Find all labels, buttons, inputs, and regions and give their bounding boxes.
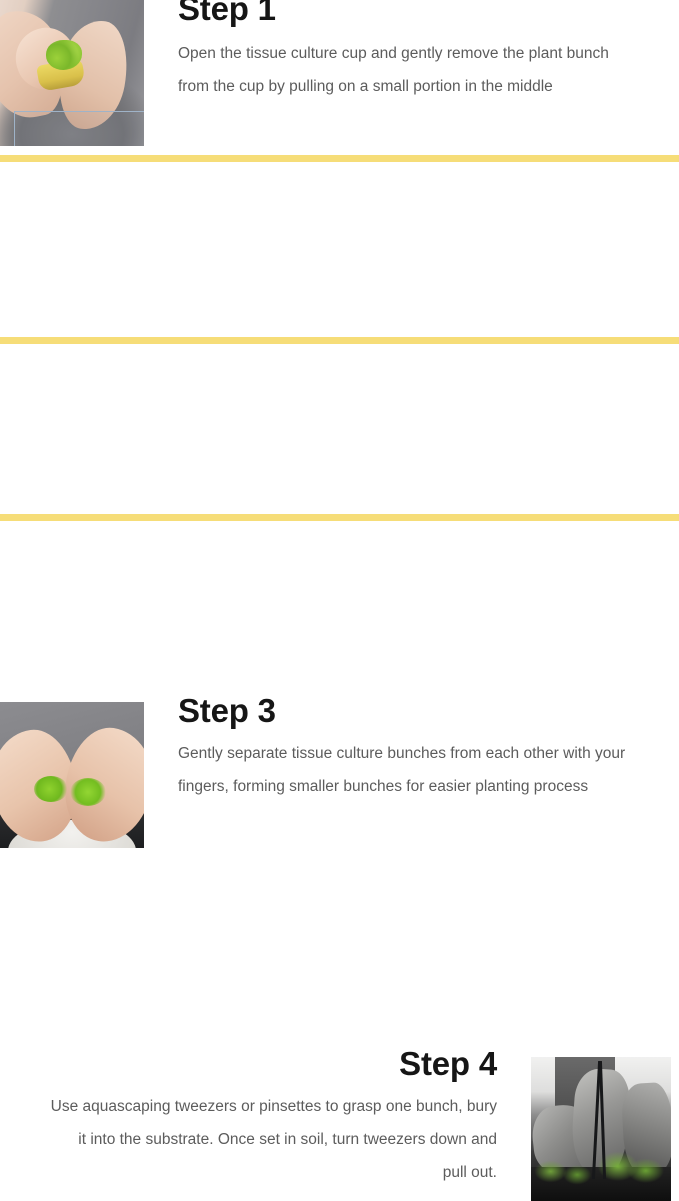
step-3-left-plant-bunch-shape	[34, 776, 68, 802]
step-3-photo-inner	[0, 702, 144, 848]
step-3-body: Gently separate tissue culture bunches f…	[178, 737, 628, 804]
step-row-1: Step 1 Open the tissue culture cup and g…	[0, 0, 679, 155]
step-1-text-block: Step 1 Open the tissue culture cup and g…	[178, 0, 628, 103]
step-4-heading: Step 4	[50, 1047, 497, 1082]
step-3-right-plant-bunch-shape	[70, 778, 106, 806]
step-3-heading: Step 3	[178, 694, 628, 729]
steps-infographic: Step 1 Open the tissue culture cup and g…	[0, 0, 679, 680]
step-1-table-edge-shape	[14, 111, 144, 146]
step-4-photo-inner	[531, 1057, 671, 1201]
step-1-heading: Step 1	[178, 0, 628, 27]
divider-2	[0, 337, 679, 344]
step-1-photo-inner	[0, 0, 144, 146]
divider-1	[0, 155, 679, 162]
step-1-photo	[0, 0, 144, 146]
divider-3	[0, 514, 679, 521]
step-4-photo	[531, 1057, 671, 1201]
step-row-4: Step 4 Use aquascaping tweezers or pinse…	[0, 521, 679, 680]
step-4-carpet-plants-shape	[531, 1151, 671, 1185]
step-4-text-block: Step 4 Use aquascaping tweezers or pinse…	[50, 1047, 497, 1190]
step-row-3: Step 3 Gently separate tissue culture bu…	[0, 344, 679, 514]
step-3-photo	[0, 702, 144, 848]
step-row-2: Step 2 Rinse the tissue culture in dechl…	[0, 162, 679, 337]
step-4-body: Use aquascaping tweezers or pinsettes to…	[50, 1090, 497, 1190]
step-1-body: Open the tissue culture cup and gently r…	[178, 37, 628, 104]
step-3-text-block: Step 3 Gently separate tissue culture bu…	[178, 694, 628, 803]
